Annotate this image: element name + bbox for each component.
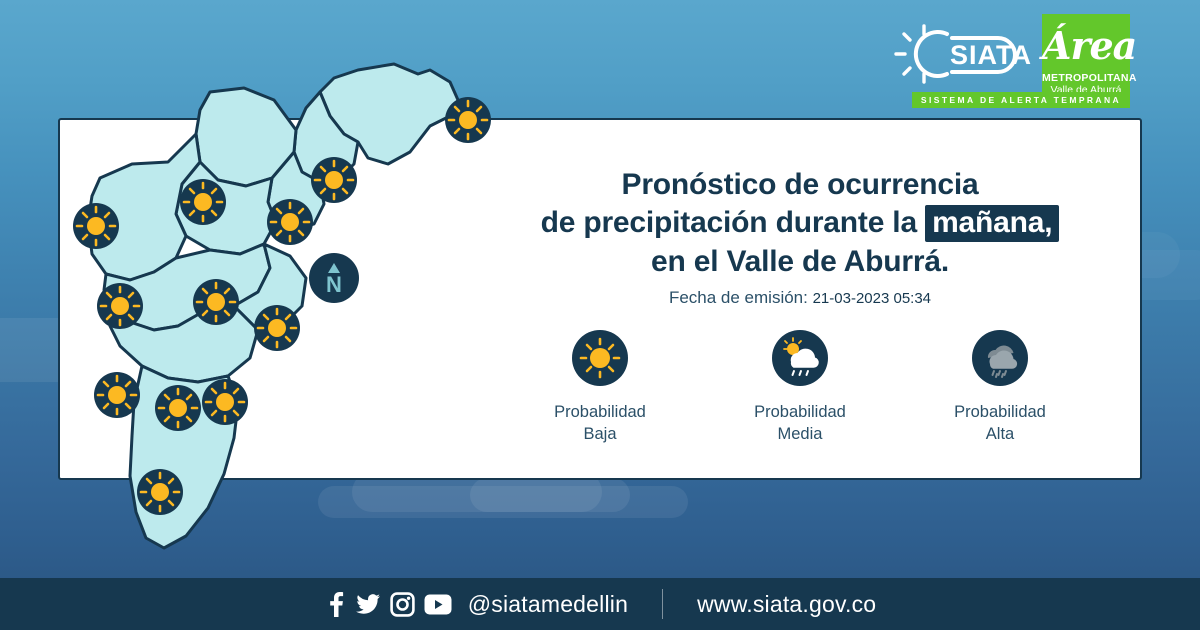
title-highlight: mañana, [925,205,1059,242]
cloud-rain-icon [972,330,1028,386]
map-marker-sun[interactable] [311,157,357,203]
area-logo-line1: METROPOLITANA [1042,72,1130,84]
sun-cloud-rain-icon [772,330,828,386]
youtube-icon[interactable] [424,594,452,615]
map-marker-sun[interactable] [445,97,491,143]
background-cloud [470,478,630,512]
svg-text:N: N [326,272,342,297]
legend-label-baja: Probabilidad Baja [515,401,685,446]
issue-date-label: Fecha de emisión: [669,288,808,307]
tagline-banner: SISTEMA DE ALERTA TEMPRANA [912,92,1130,108]
siata-logo: SIATA [890,20,1040,88]
footer-divider [662,589,663,619]
probability-legend: Probabilidad Baja Probabilidad Media [500,330,1100,446]
map-marker-sun[interactable] [193,279,239,325]
svg-text:SIATA: SIATA [950,40,1032,70]
map-marker-sun[interactable] [94,372,140,418]
sun-icon [572,330,628,386]
legend-item-baja: Probabilidad Baja [515,330,685,446]
twitter-icon[interactable] [355,591,381,617]
social-handle[interactable]: @siatamedellin [468,591,628,618]
title-line-2: de precipitación durante la mañana, [500,204,1100,242]
title-line-1: Pronóstico de ocurrencia [500,166,1100,204]
valle-de-aburra-map: N [58,30,478,575]
legend-item-media: Probabilidad Media [715,330,885,446]
website-url[interactable]: www.siata.gov.co [697,591,876,618]
map-marker-sun[interactable] [97,283,143,329]
instagram-icon[interactable] [390,592,415,617]
map-marker-sun[interactable] [155,385,201,431]
page-title: Pronóstico de ocurrencia de precipitació… [500,166,1100,281]
map-marker-sun[interactable] [254,305,300,351]
map-marker-sun[interactable] [202,379,248,425]
infographic-root: SIATA Área METROPOLITANA Valle de Aburrá… [0,0,1200,630]
title-line-3: en el Valle de Aburrá. [500,243,1100,281]
issue-date: Fecha de emisión: 21-03-2023 05:34 [500,288,1100,308]
compass-rose: N [309,253,359,303]
title-line-2-pre: de precipitación durante la [541,206,926,239]
legend-label-media: Probabilidad Media [715,401,885,446]
facebook-icon[interactable] [324,591,346,617]
map-marker-sun[interactable] [73,203,119,249]
area-logo-script: Área [1042,18,1130,74]
issue-date-value: 21-03-2023 05:34 [813,290,931,307]
map-marker-sun[interactable] [180,179,226,225]
map-marker-sun[interactable] [137,469,183,515]
social-icon-group [324,591,452,617]
footer-bar: @siatamedellin www.siata.gov.co [0,578,1200,630]
legend-item-alta: Probabilidad Alta [915,330,1085,446]
legend-label-alta: Probabilidad Alta [915,401,1085,446]
map-marker-sun[interactable] [267,199,313,245]
area-metropolitana-logo: Área METROPOLITANA Valle de Aburrá [1042,14,1130,102]
